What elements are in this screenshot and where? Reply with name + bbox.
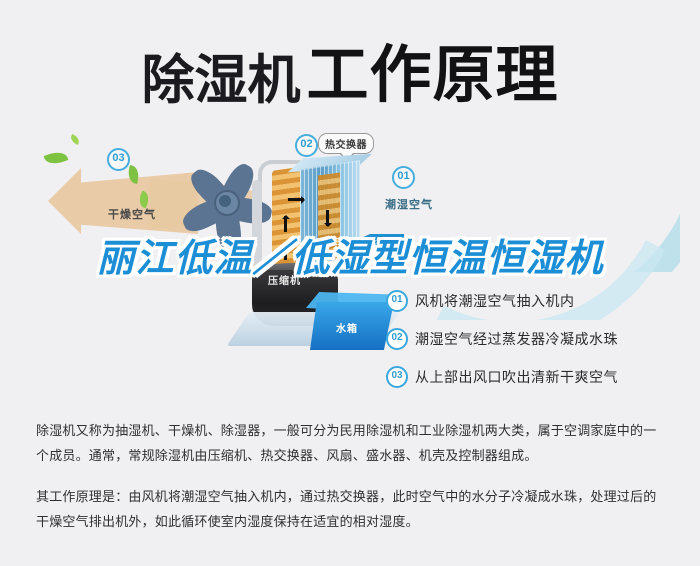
- heat-exchanger-callout: 热交换器: [318, 133, 374, 154]
- legend-badge-01: 01: [386, 290, 408, 312]
- legend-text-03: 从上部出风口吹出清新干爽空气: [415, 367, 618, 387]
- description-paragraph-1: 除湿机又称为抽湿机、干燥机、除湿器，一般可分为民用除湿机和工业除湿机两大类，属于…: [36, 418, 664, 468]
- description-paragraph-2: 其工作原理是：由风机将潮湿空气抽入机内，通过热交换器，此时空气中的水分子冷凝成水…: [36, 484, 664, 534]
- page-title-part2: 工作原理: [306, 41, 558, 110]
- diagram-badge-01: 01: [392, 166, 415, 189]
- page-title: 除湿机工作原理: [0, 24, 700, 114]
- flow-arrow-up: [284, 216, 287, 232]
- legend-item: 01 风机将潮湿空气抽入机内: [386, 290, 686, 312]
- legend-item: 03 从上部出风口吹出清新干爽空气: [386, 366, 686, 388]
- legend-text-02: 潮湿空气经过蒸发器冷凝成水珠: [415, 329, 618, 349]
- legend-badge-03: 03: [386, 366, 408, 388]
- leaf-icon: [44, 149, 69, 168]
- dry-air-label: 干燥空气: [108, 206, 156, 222]
- poster-root: 除湿机工作原理 干燥空气 03 02 01 热交换器 潮湿空气: [0, 0, 700, 566]
- flow-arrow-right: [288, 198, 304, 201]
- humid-air-label: 潮湿空气: [385, 196, 433, 212]
- flow-arrow-down: [326, 210, 329, 226]
- diagram-badge-03: 03: [107, 148, 130, 171]
- legend-list: 01 风机将潮湿空气抽入机内 02 潮湿空气经过蒸发器冷凝成水珠 03 从上部出…: [386, 290, 686, 404]
- diagram-badge-02: 02: [295, 134, 318, 157]
- leaf-icon: [69, 134, 81, 145]
- page-title-part1: 除湿机: [141, 51, 300, 110]
- watermark-text: 丽江低温／低湿型恒温恒湿机: [0, 240, 700, 280]
- legend-text-01: 风机将潮湿空气抽入机内: [415, 291, 575, 311]
- description-block: 除湿机又称为抽湿机、干燥机、除湿器，一般可分为民用除湿机和工业除湿机两大类，属于…: [36, 418, 664, 534]
- legend-badge-02: 02: [386, 328, 408, 350]
- water-tank-label: 水箱: [336, 320, 358, 335]
- legend-item: 02 潮湿空气经过蒸发器冷凝成水珠: [386, 328, 686, 350]
